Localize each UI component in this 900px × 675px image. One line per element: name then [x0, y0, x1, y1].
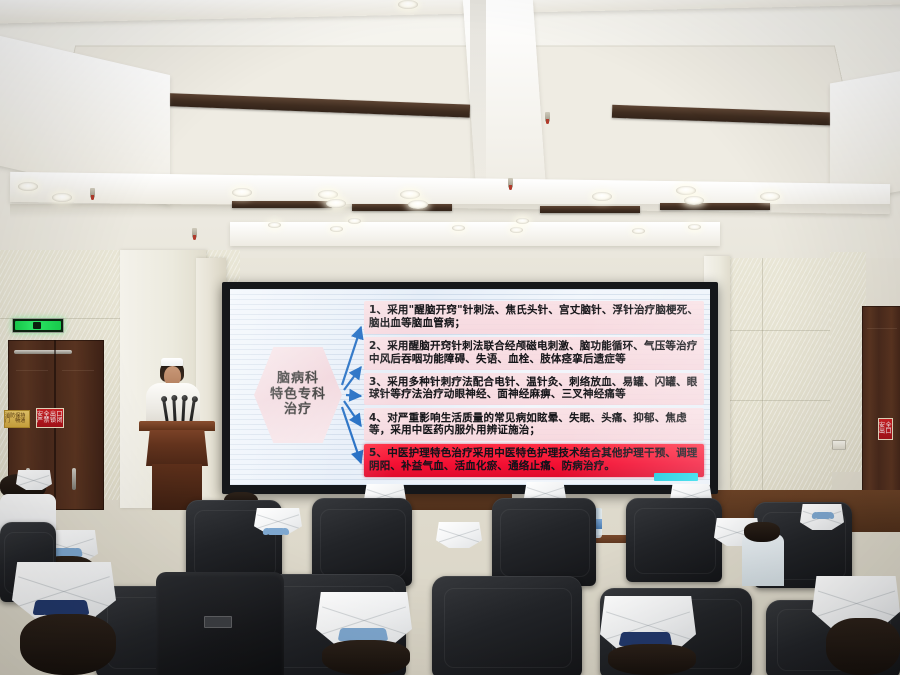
chair[interactable] [492, 498, 596, 586]
downlight [330, 226, 343, 232]
sprinkler-head [508, 178, 513, 188]
arrow-5 [342, 407, 361, 463]
cap-bow [44, 600, 78, 615]
downlight [510, 227, 523, 233]
podium-top [139, 421, 215, 431]
ceiling-beam-shadow [470, 0, 486, 205]
door-panel-line [16, 370, 48, 371]
downlight [592, 192, 612, 201]
wall-seam [762, 258, 763, 508]
door-panel-line [867, 328, 897, 329]
sprinkler-head [192, 228, 197, 238]
ceiling-slot-3 [540, 206, 640, 213]
nurse-cap [436, 522, 482, 548]
sprinkler-head [545, 112, 550, 122]
speaker-nurse-cap [161, 358, 183, 366]
hexagon-line-1: 脑病科 [277, 372, 319, 387]
downlight [398, 0, 418, 9]
jacket-label-tag [204, 616, 232, 628]
downlight [408, 200, 428, 209]
downlight [688, 224, 701, 230]
ceiling-step-right [830, 61, 900, 204]
downlight [684, 196, 704, 205]
ceiling-edge-top [0, 0, 900, 24]
downlight [348, 218, 361, 224]
projection-screen[interactable]: 脑病科 特色专科 治疗 1、采用"醒脑开窍"针刺法、焦氏头针、宫丈脑针、浮针治疗… [222, 282, 718, 494]
ceiling-slot-1 [232, 201, 332, 208]
downlight [632, 228, 645, 234]
wall-panel-right [712, 258, 832, 508]
attendee-hair [826, 618, 900, 675]
slide-item: 3、采用多种针刺疗法配合电针、温针灸、刺络放血、易罐、闪罐、眼球针等疗法治疗动眼… [364, 373, 704, 406]
door-sign-emergency-exit: 安全出口 严禁锁闭 [36, 408, 64, 428]
downlight [516, 218, 529, 224]
attendee-hair [322, 640, 410, 675]
ceiling [0, 0, 900, 258]
downlight [760, 192, 780, 201]
slide-surface: 脑病科 特色专科 治疗 1、采用"醒脑开窍"针刺法、焦氏头针、宫丈脑针、浮针治疗… [230, 289, 710, 485]
screen-status-badge[interactable] [654, 473, 698, 481]
hexagon-line-2: 特色专科 [270, 388, 326, 403]
downlight [52, 193, 72, 202]
door-panel-line [62, 370, 94, 371]
downlight [676, 186, 696, 195]
arrow-3 [346, 395, 361, 396]
cap-bow [268, 528, 284, 535]
conference-hall-photo: 消防门 保持畅通 安全出口 严禁锁闭 安全 出口 脑病科 特色专科 治疗 [0, 0, 900, 675]
chair[interactable] [432, 576, 582, 675]
emergency-exit-light-icon [12, 318, 64, 333]
downlight [18, 182, 38, 191]
arrow-2 [344, 367, 361, 390]
wall-switch-plate[interactable] [832, 440, 846, 450]
ceiling-slot-2 [352, 204, 452, 211]
right-sign-line-2: 出口 [879, 429, 892, 435]
wall-panel-far-right [830, 252, 866, 472]
chair[interactable] [626, 498, 722, 582]
attendee-hair [744, 522, 780, 542]
slide-item: 1、采用"醒脑开窍"针刺法、焦氏头针、宫丈脑针、浮针治疗脑梗死、脑出血等脑血管病… [364, 301, 704, 334]
right-door-sign: 安全 出口 [878, 418, 893, 440]
ceiling-screen-header [230, 222, 720, 246]
wall-seam [712, 330, 832, 331]
podium-body [146, 430, 208, 466]
gold-sign-line-1: 消防门 [5, 414, 15, 425]
slide-item-highlighted: 5、中医护理特色治疗采用中医特色护理技术结合其他护理干预、调理阴阳、补益气血、活… [364, 444, 704, 477]
door-handle[interactable] [72, 468, 76, 490]
wall-seam [712, 400, 832, 401]
downlight [318, 190, 338, 199]
downlight [326, 199, 346, 208]
arrow-1 [342, 327, 361, 385]
gold-sign-line-2: 保持畅通 [15, 414, 29, 425]
attendee-hair [20, 614, 116, 675]
slide-item: 2、采用醒脑开窍针刺法联合经颅磁电刺激、脑功能循环、气压等治疗中风后吞咽功能障碍… [364, 337, 704, 370]
slide-hexagon-title: 脑病科 特色专科 治疗 [254, 347, 342, 443]
downlight [268, 222, 281, 228]
downlight [452, 225, 465, 231]
slide-item: 4、对严重影响生活质量的常见病如眩晕、失眠、头痛、抑郁、焦虑等，采用中医药内服外… [364, 408, 704, 441]
red-sign-line-2: 严禁锁闭 [37, 418, 63, 424]
cap-bow [816, 512, 830, 519]
attendee-hair [608, 644, 696, 675]
door-sign-gold: 消防门 保持畅通 [4, 410, 30, 428]
sprinkler-head [90, 188, 95, 198]
nurse-cap [16, 470, 52, 490]
arrow-4 [344, 401, 361, 426]
right-door[interactable] [862, 306, 900, 516]
slide-item-list: 1、采用"醒脑开窍"针刺法、焦氏头针、宫丈脑针、浮针治疗脑梗死、脑出血等脑血管病… [364, 301, 704, 477]
hexagon-line-3: 治疗 [284, 403, 312, 418]
ceiling-slot-4 [660, 203, 770, 210]
chair[interactable] [312, 498, 412, 586]
door-closer-bar [14, 350, 72, 354]
downlight [400, 190, 420, 199]
downlight [232, 188, 252, 197]
